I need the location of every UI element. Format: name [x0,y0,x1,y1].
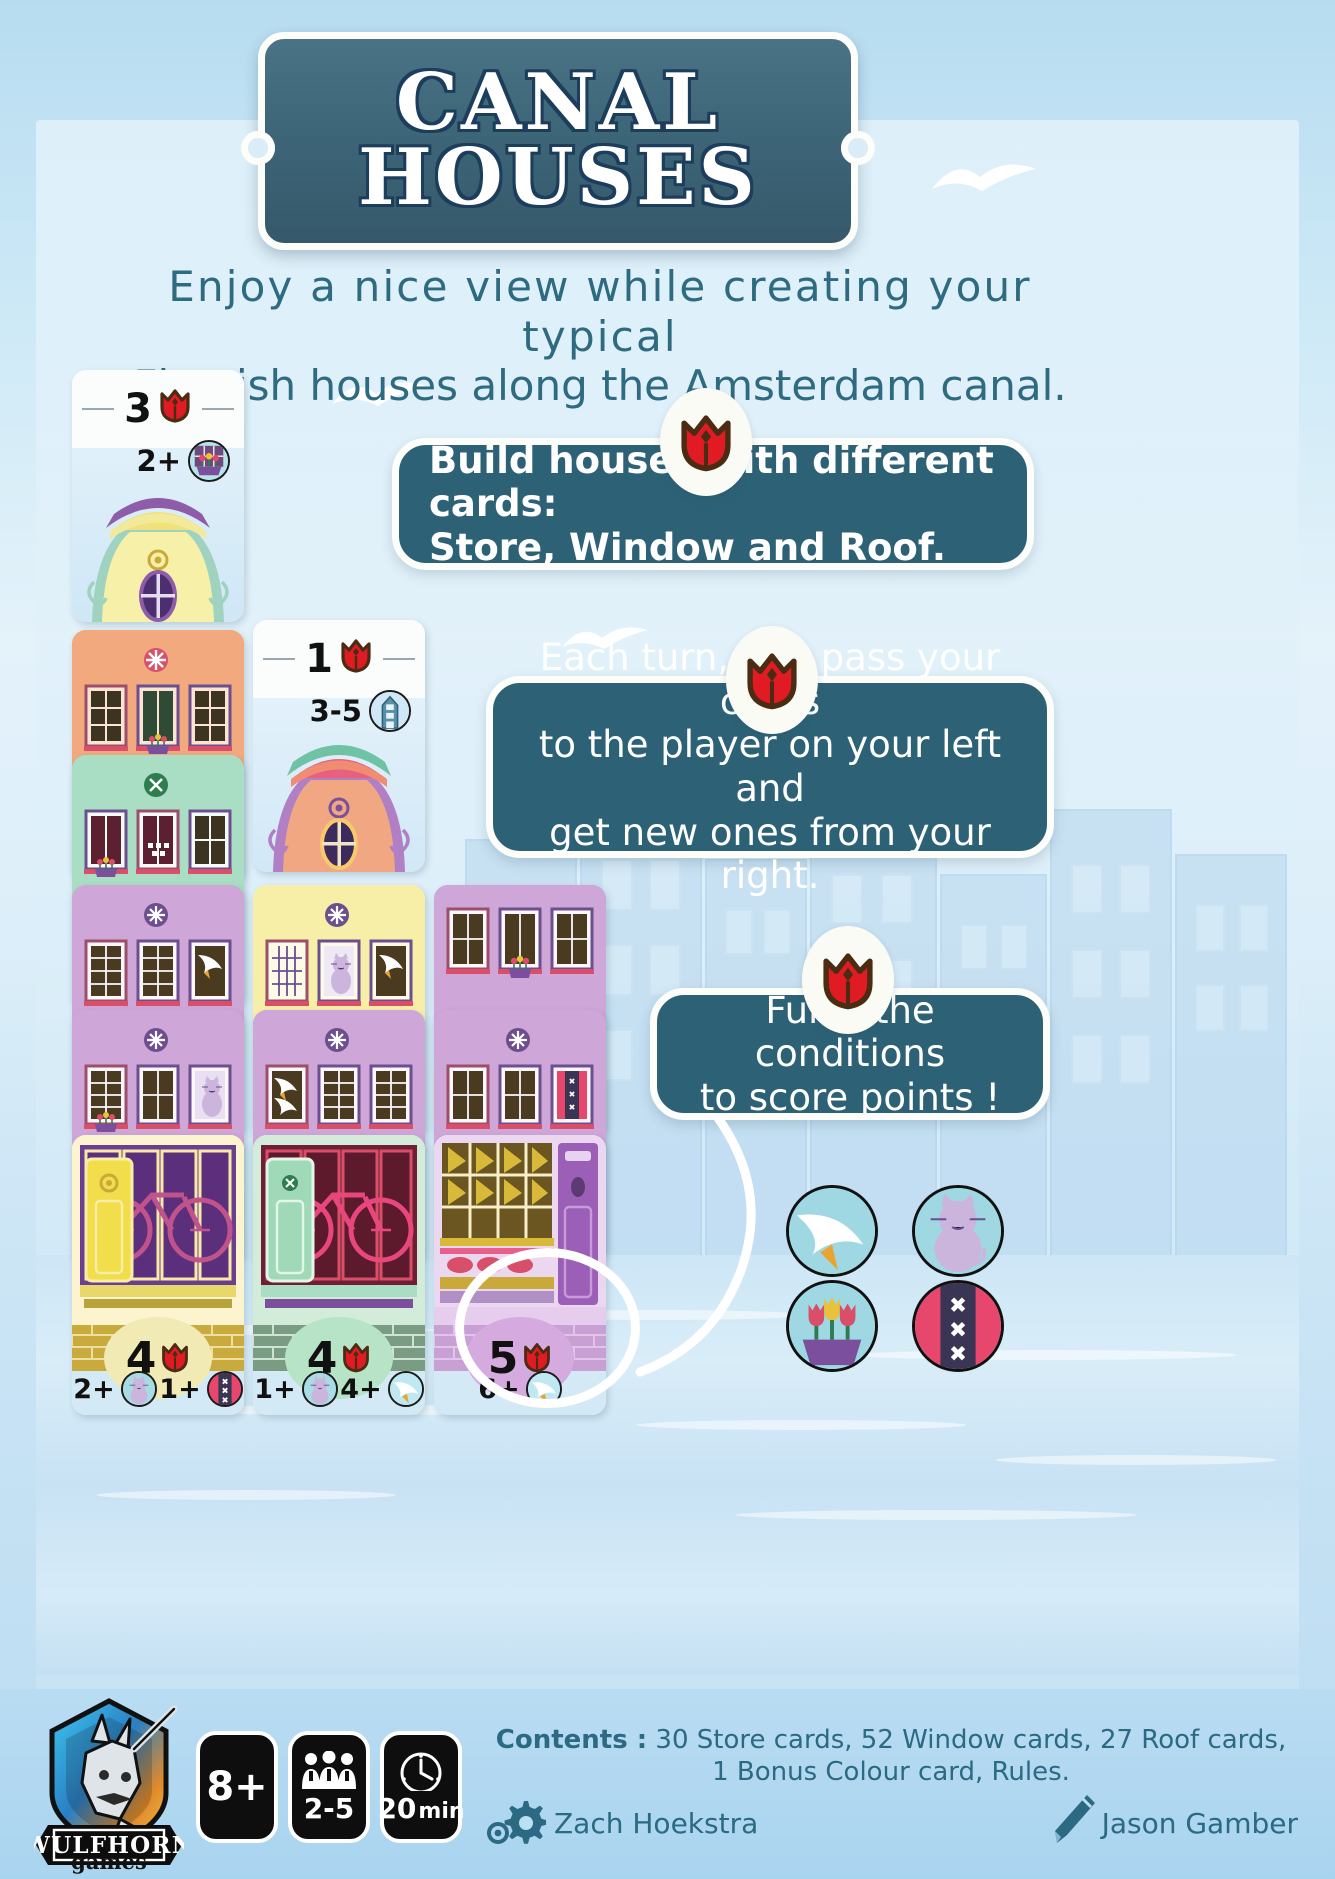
cat-icon [912,1185,1004,1277]
paintbrush-icon [1043,1791,1101,1857]
credits: Zach Hoekstra Jason Gamber [476,1797,1306,1853]
condition-cat: 1+ [254,1371,337,1407]
highlight-ring [455,1248,640,1408]
roof-card-condition-value: 2+ [137,444,181,478]
contents-label: Contents : [496,1725,647,1755]
players-badge: 2-5 [288,1731,370,1843]
tulip-icon [158,385,192,433]
contents-line-2: 1 Bonus Colour card, Rules. [712,1757,1070,1787]
title-line-2: HOUSES [358,141,758,216]
playtime-unit: min [418,1801,464,1823]
store-card[interactable]: 4 1+ 4+ [253,1135,425,1415]
publisher-logo[interactable]: WULFHORN games [34,1697,184,1872]
contents-line-1: 30 Store cards, 52 Window cards, 27 Roof… [655,1725,1286,1755]
tulip-badge [726,626,818,734]
players-icon [300,1751,358,1791]
tulip-badge [802,926,894,1034]
designer-name: Zach Hoekstra [554,1807,758,1840]
bonus-icons: ✖✖✖ [786,1185,1004,1370]
footer: WULFHORN games 8+ 2-5 20min Contents : 3… [0,1689,1335,1879]
svg-text:✖: ✖ [569,1077,576,1086]
artist-name: Jason Gamber [1102,1807,1298,1840]
tulip-icon [743,646,801,714]
tulip-badge [660,388,752,496]
title-line-1: CANAL [396,66,720,141]
seagull-icon [388,1371,424,1407]
age-value: 8+ [206,1767,267,1807]
svg-text:✖: ✖ [949,1342,967,1367]
cat-icon [302,1371,338,1407]
contents-text: Contents : 30 Store cards, 52 Window car… [476,1725,1306,1788]
svg-text:✖: ✖ [221,1395,228,1405]
roof-card-condition-value: 3-5 [310,694,362,728]
subtitle-line-2: Flemish houses along the Amsterdam canal… [100,361,1100,411]
tulip-window-icon [786,1280,878,1372]
condition-flag: 1+ ✖✖✖ [159,1371,242,1407]
condition-seagull: 4+ [340,1371,423,1407]
tulip-icon [819,946,877,1014]
title-plaque: CANAL HOUSES [258,32,858,250]
svg-text:✖: ✖ [949,1318,967,1343]
seagull-icon [786,1185,878,1277]
house-icon [369,690,411,732]
svg-text:✖: ✖ [569,1090,576,1099]
amsterdam-flag-icon: ✖✖✖ [207,1371,243,1407]
tulip-icon [677,408,735,476]
amsterdam-flag-icon: ✖✖✖ [912,1280,1004,1372]
roof-card[interactable]: 3 2+ [72,370,244,622]
svg-text:✖: ✖ [949,1293,967,1318]
subtitle: Enjoy a nice view while creating your ty… [100,262,1100,411]
cat-icon [121,1371,157,1407]
playtime-badge: 20min [380,1731,462,1843]
players-value: 2-5 [304,1795,355,1823]
bubble-build-line-2: Store, Window and Roof. [429,526,997,570]
bubble-pass-line-3: get new ones from your right. [523,811,1017,898]
publisher-tagline: games [34,1849,184,1874]
playtime-value: 20 [377,1795,416,1823]
tulip-icon [339,635,373,683]
bubble-pass-line-2: to the player on your left and [523,723,1017,810]
condition-cat: 2+ [73,1371,156,1407]
age-badge: 8+ [196,1731,278,1843]
svg-text:✖: ✖ [569,1103,576,1112]
store-card-conditions: 2+ 1+ ✖✖✖ [72,1371,244,1407]
page-title: CANAL HOUSES [258,32,858,250]
roof-card[interactable]: 1 3-5 [253,620,425,872]
subtitle-line-1: Enjoy a nice view while creating your ty… [100,262,1100,361]
tulip-window-icon [188,440,230,482]
clock-icon [394,1751,448,1791]
store-card-conditions: 1+ 4+ [253,1371,425,1407]
roof-card-points: 3 [124,386,152,432]
store-card[interactable]: 4 2+ 1+ ✖✖✖ [72,1135,244,1415]
roof-card-points: 1 [305,636,333,682]
gears-icon [484,1797,546,1853]
